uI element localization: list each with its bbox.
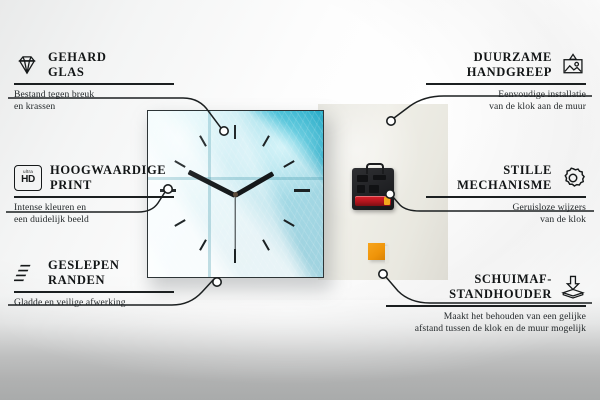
callout-title: DUURZAME HANDGREEP: [467, 50, 552, 79]
callout-title: GEHARD GLAS: [48, 50, 106, 79]
diamond-icon: [14, 52, 40, 78]
beveled-edges-icon: [14, 260, 40, 286]
callout-rule: [14, 196, 174, 198]
callout-rule: [14, 83, 174, 85]
infographic-canvas: GEHARD GLAS Bestand tegen breuk en krass…: [0, 0, 600, 400]
battery: [355, 196, 391, 206]
callout-subtitle: Eenvoudige installatie van de klok aan d…: [426, 89, 586, 114]
ultra-hd-badge-icon: ultra HD: [14, 165, 42, 191]
battery-positive-terminal: [384, 197, 390, 205]
callout-subtitle: Intense kleuren en een duidelijk beeld: [14, 202, 174, 227]
clock-movement: [352, 168, 394, 210]
foam-spacer-icon: [560, 274, 586, 300]
glass-gloss-overlay: [148, 111, 323, 277]
foam-spacer: [368, 243, 385, 260]
callout-title: HOOGWAARDIGE PRINT: [50, 163, 166, 192]
movement-slot-d: [369, 185, 379, 193]
callout-hd-print[interactable]: ultra HD HOOGWAARDIGE PRINT Intense kleu…: [14, 163, 174, 227]
callout-durable-hanger[interactable]: DUURZAME HANDGREEP Eenvoudige installati…: [426, 50, 586, 114]
badge-large-text: HD: [21, 175, 35, 185]
callout-subtitle: Geruisloze wijzers van de klok: [426, 202, 586, 227]
hanging-picture-icon: [560, 52, 586, 78]
callout-title: STILLE MECHANISME: [457, 163, 552, 192]
callout-ground-edges[interactable]: GESLEPEN RANDEN Gladde en veilige afwerk…: [14, 258, 174, 309]
movement-slot-b: [373, 175, 386, 180]
callout-silent-mechanism[interactable]: STILLE MECHANISME Geruisloze wijzers van…: [426, 163, 586, 227]
callout-tempered-glass[interactable]: GEHARD GLAS Bestand tegen breuk en krass…: [14, 50, 174, 114]
callout-rule: [426, 196, 586, 198]
movement-slot-a: [357, 175, 368, 182]
callout-rule: [386, 305, 586, 307]
callout-subtitle: Bestand tegen breuk en krassen: [14, 89, 174, 114]
callout-title: SCHUIMAF- STANDHOUDER: [449, 272, 552, 301]
callout-subtitle: Gladde en veilige afwerking: [14, 297, 174, 309]
movement-slot-c: [357, 185, 365, 193]
gear-icon: [560, 165, 586, 191]
movement-hanger-lug: [366, 163, 384, 174]
callout-foam-spacer[interactable]: SCHUIMAF- STANDHOUDER Maakt het behouden…: [386, 272, 586, 336]
callout-subtitle: Maakt het behouden van een gelijke afsta…: [386, 311, 586, 336]
foam-spacer-side: [385, 246, 389, 263]
callout-title: GESLEPEN RANDEN: [48, 258, 120, 287]
callout-rule: [426, 83, 586, 85]
callout-rule: [14, 291, 174, 293]
